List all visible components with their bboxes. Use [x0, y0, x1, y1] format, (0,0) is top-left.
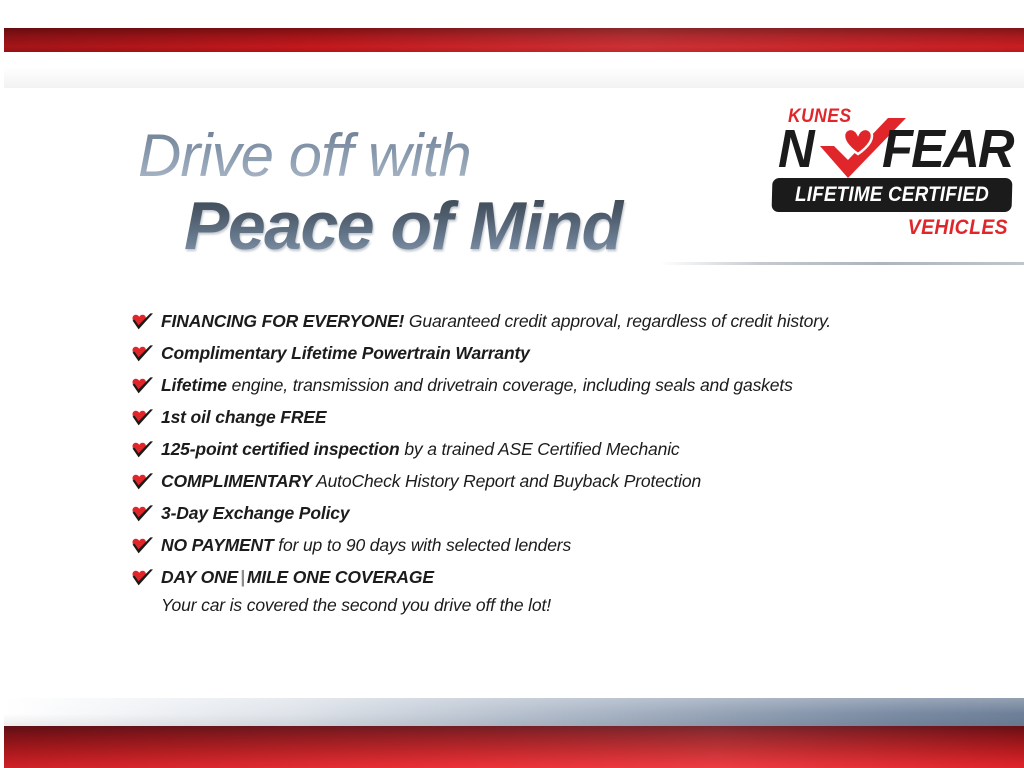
benefit-item: 3-Day Exchange Policy — [130, 498, 950, 530]
benefit-text: NO PAYMENT for up to 90 days with select… — [161, 530, 571, 560]
benefit-text: COMPLIMENTARY AutoCheck History Report a… — [161, 466, 701, 496]
benefit-lead: Lifetime — [161, 375, 227, 395]
benefit-text-block: DAY ONE|MILE ONE COVERAGE Your car is co… — [161, 562, 551, 618]
logo-certified-text: LIFETIME CERTIFIED — [784, 178, 1000, 212]
benefit-lead: NO PAYMENT — [161, 535, 274, 555]
benefit-lead-part1: DAY ONE — [161, 567, 238, 587]
headline-line-2: Peace of Mind — [184, 192, 758, 261]
benefit-item: 125-point certified inspection by a trai… — [130, 434, 950, 466]
benefit-text: 125-point certified inspection by a trai… — [161, 434, 680, 464]
benefit-lead: COMPLIMENTARY — [161, 471, 312, 491]
benefit-rest: Guaranteed credit approval, regardless o… — [404, 311, 831, 331]
benefit-item: NO PAYMENT for up to 90 days with select… — [130, 530, 950, 562]
benefit-item: Complimentary Lifetime Powertrain Warran… — [130, 338, 950, 370]
benefit-item: FINANCING FOR EVERYONE! Guaranteed credi… — [130, 306, 950, 338]
heart-check-icon — [130, 407, 154, 428]
logo-letter-n: N — [778, 122, 813, 176]
benefit-rest: for up to 90 days with selected lenders — [274, 535, 572, 555]
benefit-rest: by a trained ASE Certified Mechanic — [400, 439, 680, 459]
benefit-lead: 125-point certified inspection — [161, 439, 400, 459]
heart-check-icon — [130, 375, 154, 396]
benefit-lead: FINANCING FOR EVERYONE! — [161, 311, 404, 331]
benefit-lead: 1st oil change FREE — [161, 407, 326, 427]
benefit-rest: engine, transmission and drivetrain cove… — [227, 375, 793, 395]
benefit-item: Lifetime engine, transmission and drivet… — [130, 370, 950, 402]
heart-check-icon — [130, 503, 154, 524]
heart-check-icon — [130, 567, 154, 588]
top-blue-band — [4, 52, 1024, 88]
benefit-text: 1st oil change FREE — [161, 402, 326, 432]
logo-vehicles-text: VEHICLES — [908, 216, 1008, 240]
benefit-text: Lifetime engine, transmission and drivet… — [161, 370, 793, 400]
benefit-rest: AutoCheck History Report and Buyback Pro… — [312, 471, 701, 491]
promo-banner: Drive off with Peace of Mind KUNES N FEA… — [0, 0, 1024, 768]
heart-check-icon — [130, 311, 154, 332]
bottom-blue-band — [4, 698, 1024, 726]
top-red-band — [4, 28, 1024, 52]
header-divider — [660, 262, 1024, 265]
heart-check-icon — [130, 439, 154, 460]
benefit-separator: | — [238, 567, 247, 587]
benefit-text: 3-Day Exchange Policy — [161, 498, 349, 528]
benefit-item: 1st oil change FREE — [130, 402, 950, 434]
benefit-lead: 3-Day Exchange Policy — [161, 503, 349, 523]
logo-nofear-wordmark: N FEAR — [778, 122, 1012, 182]
headline-line-1: Drive off with — [138, 126, 758, 186]
benefit-text: FINANCING FOR EVERYONE! Guaranteed credi… — [161, 306, 831, 336]
bottom-red-band — [4, 726, 1024, 768]
benefit-item: DAY ONE|MILE ONE COVERAGE Your car is co… — [130, 562, 950, 618]
benefit-item: COMPLIMENTARY AutoCheck History Report a… — [130, 466, 950, 498]
benefit-lead: Complimentary Lifetime Powertrain Warran… — [161, 343, 530, 363]
heart-check-icon — [130, 343, 154, 364]
benefits-list: FINANCING FOR EVERYONE! Guaranteed credi… — [130, 306, 950, 618]
bottom-blue-band-sheen — [4, 698, 1024, 726]
heart-check-icon — [130, 535, 154, 556]
logo-word-fear: FEAR — [882, 122, 1013, 176]
heart-check-icon — [130, 471, 154, 492]
headline-block: Drive off with Peace of Mind — [138, 126, 758, 261]
top-blue-band-sheen — [4, 52, 1024, 88]
benefit-subtext: Your car is covered the second you drive… — [161, 592, 551, 618]
benefit-text: Complimentary Lifetime Powertrain Warran… — [161, 338, 530, 368]
benefit-lead-part2: MILE ONE COVERAGE — [247, 567, 434, 587]
benefit-text: DAY ONE|MILE ONE COVERAGE — [161, 562, 551, 592]
kunes-no-fear-logo: KUNES N FEAR LIFETIME CERTIFIED VEHICLES — [772, 106, 1012, 246]
